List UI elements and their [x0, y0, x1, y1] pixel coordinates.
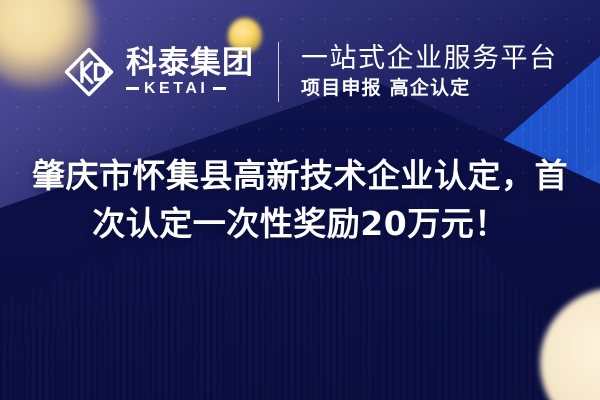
logo-name-cn: 科泰集团	[126, 48, 254, 79]
logo-name-en: KETAI	[144, 81, 208, 97]
logo-dash-right-icon	[213, 87, 226, 90]
ketai-diamond-logo-icon	[62, 45, 116, 99]
logo-dash-left-icon	[126, 87, 139, 90]
tagline-main: 一站式企业服务平台	[301, 45, 558, 74]
page-title: 肇庆市怀集县高新技术企业认定，首次认定一次性奖励20万元！	[0, 152, 600, 248]
promo-banner: 科泰集团 KETAI 一站式企业服务平台 项目申报 高企认定 肇庆市怀集县高新技…	[0, 0, 600, 400]
logo-wordmark: 科泰集团 KETAI	[126, 48, 254, 97]
brand-header: 科泰集团 KETAI 一站式企业服务平台 项目申报 高企认定	[62, 42, 558, 102]
company-logo: 科泰集团 KETAI	[62, 45, 254, 99]
brand-divider	[278, 42, 279, 102]
logo-name-en-row: KETAI	[126, 81, 254, 97]
tagline-sub: 项目申报 高企认定	[301, 78, 558, 99]
tagline-block: 一站式企业服务平台 项目申报 高企认定	[301, 45, 558, 99]
